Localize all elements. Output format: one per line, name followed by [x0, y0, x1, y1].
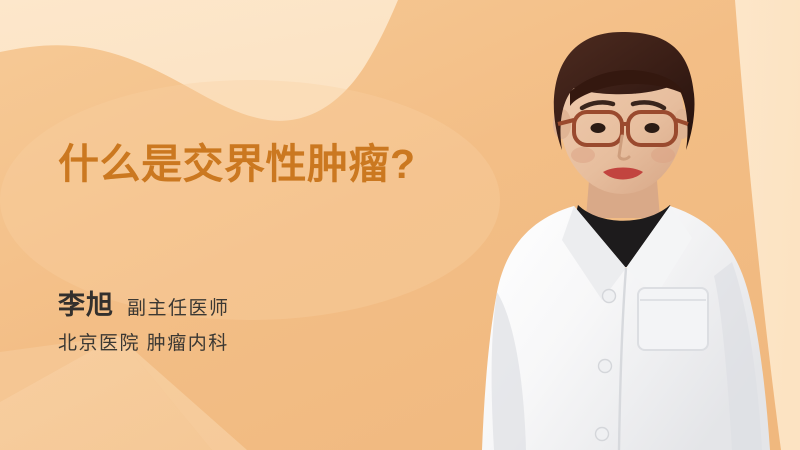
coat-button — [599, 360, 612, 373]
doctor-affiliation: 北京医院 肿瘤内科 — [58, 328, 229, 355]
video-thumbnail-card: 什么是交界性肿瘤? 李旭 副主任医师 北京医院 肿瘤内科 — [0, 0, 800, 450]
eye-right — [645, 123, 660, 133]
coat-button — [596, 428, 609, 441]
coat-pocket — [638, 288, 708, 350]
doctor-name: 李旭 — [58, 283, 114, 322]
text-content: 什么是交界性肿瘤? 李旭 副主任医师 北京医院 肿瘤内科 — [58, 0, 528, 450]
cheek-right — [651, 147, 675, 163]
doctor-primary-line: 李旭 副主任医师 — [58, 283, 230, 322]
doctor-rank-title: 副主任医师 — [127, 293, 230, 320]
coat-button — [603, 290, 616, 303]
page-title: 什么是交界性肿瘤? — [58, 142, 518, 188]
eye-left — [591, 123, 606, 133]
cheek-left — [571, 147, 595, 163]
